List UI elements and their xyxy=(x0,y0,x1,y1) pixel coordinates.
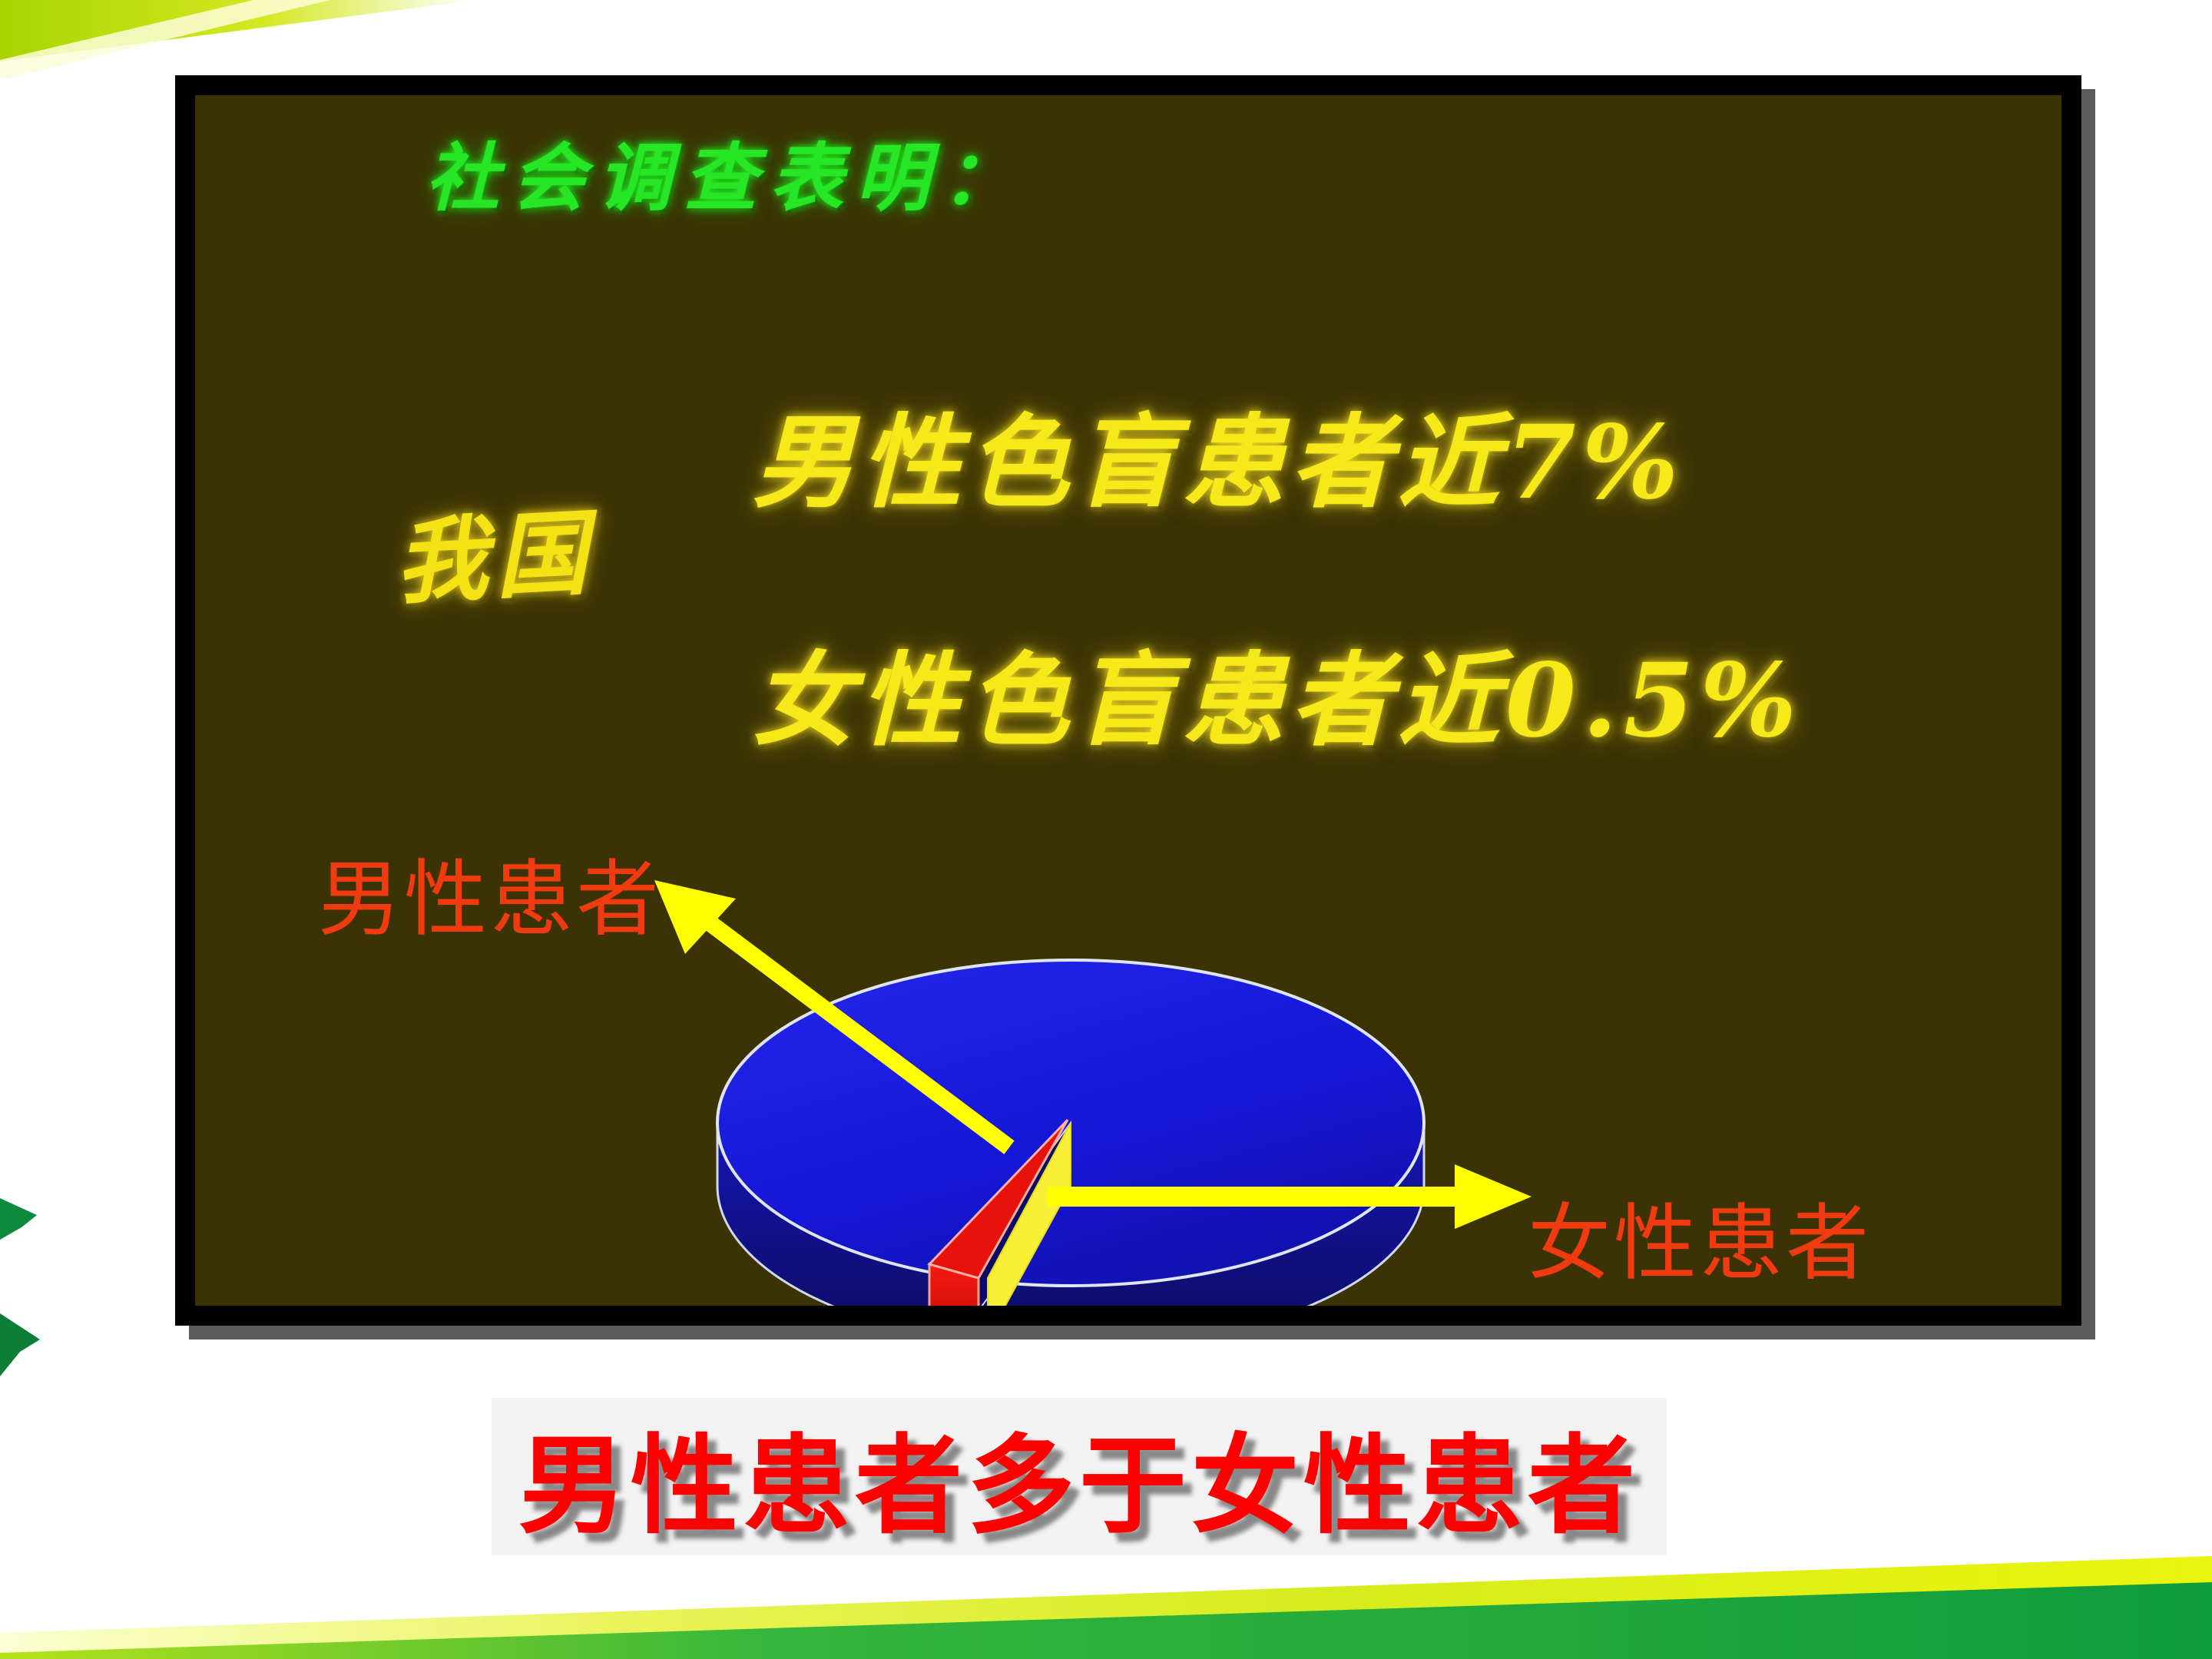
board-headline: 社会调查表明： xyxy=(426,118,1028,225)
picture-frame: 社会调查表明： 我国 男性色盲患者近7% 女性色盲患者近0.5% 男性患者 女性… xyxy=(175,75,2081,1326)
leaf-icon xyxy=(0,1198,37,1240)
conclusion-caption-box: 男性患者多于女性患者 xyxy=(492,1398,1667,1555)
blackboard-canvas: 社会调查表明： 我国 男性色盲患者近7% 女性色盲患者近0.5% 男性患者 女性… xyxy=(195,95,2061,1306)
callout-label-male: 男性患者 xyxy=(318,833,662,952)
board-stat-female: 女性色盲患者近0.5% xyxy=(753,619,1803,766)
pie-chart xyxy=(687,917,1455,1306)
conclusion-caption-text: 男性患者多于女性患者 xyxy=(518,1399,1640,1555)
callout-label-female: 女性患者 xyxy=(1528,1177,1872,1296)
leaf-icon xyxy=(0,1313,40,1376)
board-country-word: 我国 xyxy=(392,478,598,621)
board-stat-male: 男性色盲患者近7% xyxy=(753,381,1684,528)
decor-leaf-marks xyxy=(0,1175,92,1436)
